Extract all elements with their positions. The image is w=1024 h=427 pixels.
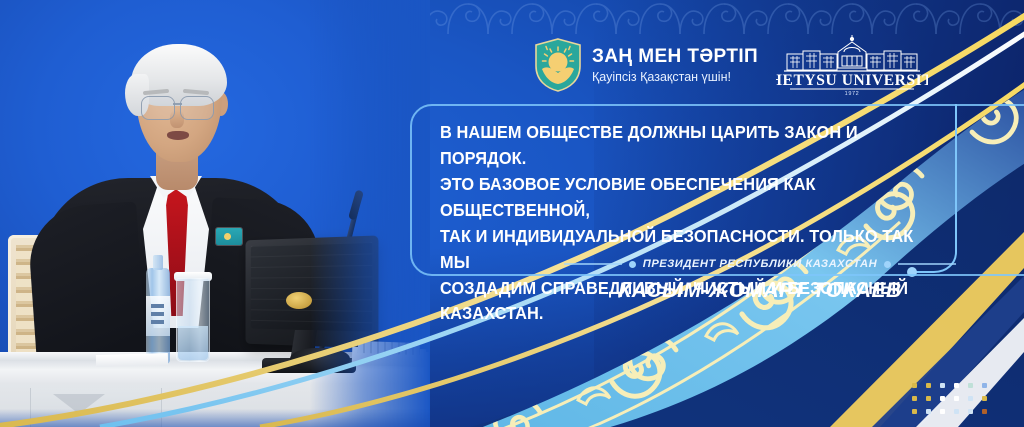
monitor-emblem — [286, 292, 312, 309]
dot-grid — [912, 383, 996, 422]
dot — [968, 396, 973, 401]
campaign-logo-title: ЗАҢ МЕН ТӘРТІП — [592, 47, 758, 66]
dot — [912, 396, 917, 401]
attribution-dot-right — [884, 261, 891, 268]
dot — [982, 383, 987, 388]
water-glass — [176, 278, 210, 362]
president-photo — [0, 0, 430, 427]
dot — [926, 383, 931, 388]
attribution-rule-left — [564, 263, 622, 265]
attribution-name: КАСЫМ-ЖОМАРТ ТОКАЕВ — [560, 279, 960, 303]
quote-line: ЭТО БАЗОВОЕ УСЛОВИЕ ОБЕСПЕЧЕНИЯ КАК ОБЩЕ… — [440, 172, 929, 224]
quote-line: В НАШЕМ ОБЩЕСТВЕ ДОЛЖНЫ ЦАРИТЬ ЗАКОН И П… — [440, 120, 929, 172]
flag-lapel-pin — [216, 228, 242, 245]
dot — [982, 409, 987, 414]
dot — [954, 396, 959, 401]
header-logos: ЗАҢ МЕН ТӘРТІП Қауіпсіз Қазақстан үшін! — [534, 34, 928, 96]
dot — [912, 409, 917, 414]
quote-card: В НАШЕМ ОБЩЕСТВЕ ДОЛЖНЫ ЦАРИТЬ ЗАКОН И П… — [410, 104, 1024, 276]
dot — [954, 409, 959, 414]
attribution-rule-right — [898, 263, 956, 265]
water-bottle-label — [146, 296, 170, 336]
dot — [982, 396, 987, 401]
dot — [912, 383, 917, 388]
dot — [968, 409, 973, 414]
university-name: ZHETYSU UNIVERSITY — [776, 72, 928, 89]
dot — [940, 383, 945, 388]
papers-left — [96, 353, 168, 367]
dot — [954, 383, 959, 388]
quote-line: КАЗАХСТАН. — [440, 301, 929, 327]
eyeglass-lens-right — [180, 96, 214, 120]
photo-bottom-fade — [0, 409, 430, 427]
dot — [926, 396, 931, 401]
dot — [940, 409, 945, 414]
eyeglass-bridge — [173, 103, 182, 105]
attribution-role: ПРЕЗИДЕНТ РЕСПУБЛИКИ КАЗАХСТАН — [643, 258, 877, 270]
dot — [926, 409, 931, 414]
kazakhstan-shield-emblem — [534, 38, 582, 92]
university-logo[interactable]: ZHETYSU UNIVERSITY 1972 — [776, 34, 928, 96]
campaign-logo-subtitle: Қауіпсіз Қазақстан үшін! — [592, 71, 758, 84]
campaign-logo[interactable]: ЗАҢ МЕН ТӘРТІП Қауіпсіз Қазақстан үшін! — [534, 38, 758, 92]
dot — [940, 396, 945, 401]
attribution-dot-left — [629, 261, 636, 268]
water-bottle — [146, 268, 170, 364]
dot — [968, 383, 973, 388]
nose — [170, 110, 184, 128]
attribution-role-row: ПРЕЗИДЕНТ РЕСПУБЛИКИ КАЗАХСТАН — [560, 258, 960, 270]
attribution: ПРЕЗИДЕНТ РЕСПУБЛИКИ КАЗАХСТАН КАСЫМ-ЖОМ… — [560, 258, 960, 303]
university-year: 1972 — [845, 91, 860, 96]
quote-banner: ЗАҢ МЕН ТӘРТІП Қауіпсіз Қазақстан үшін! — [0, 0, 1024, 427]
mouth — [167, 131, 189, 140]
